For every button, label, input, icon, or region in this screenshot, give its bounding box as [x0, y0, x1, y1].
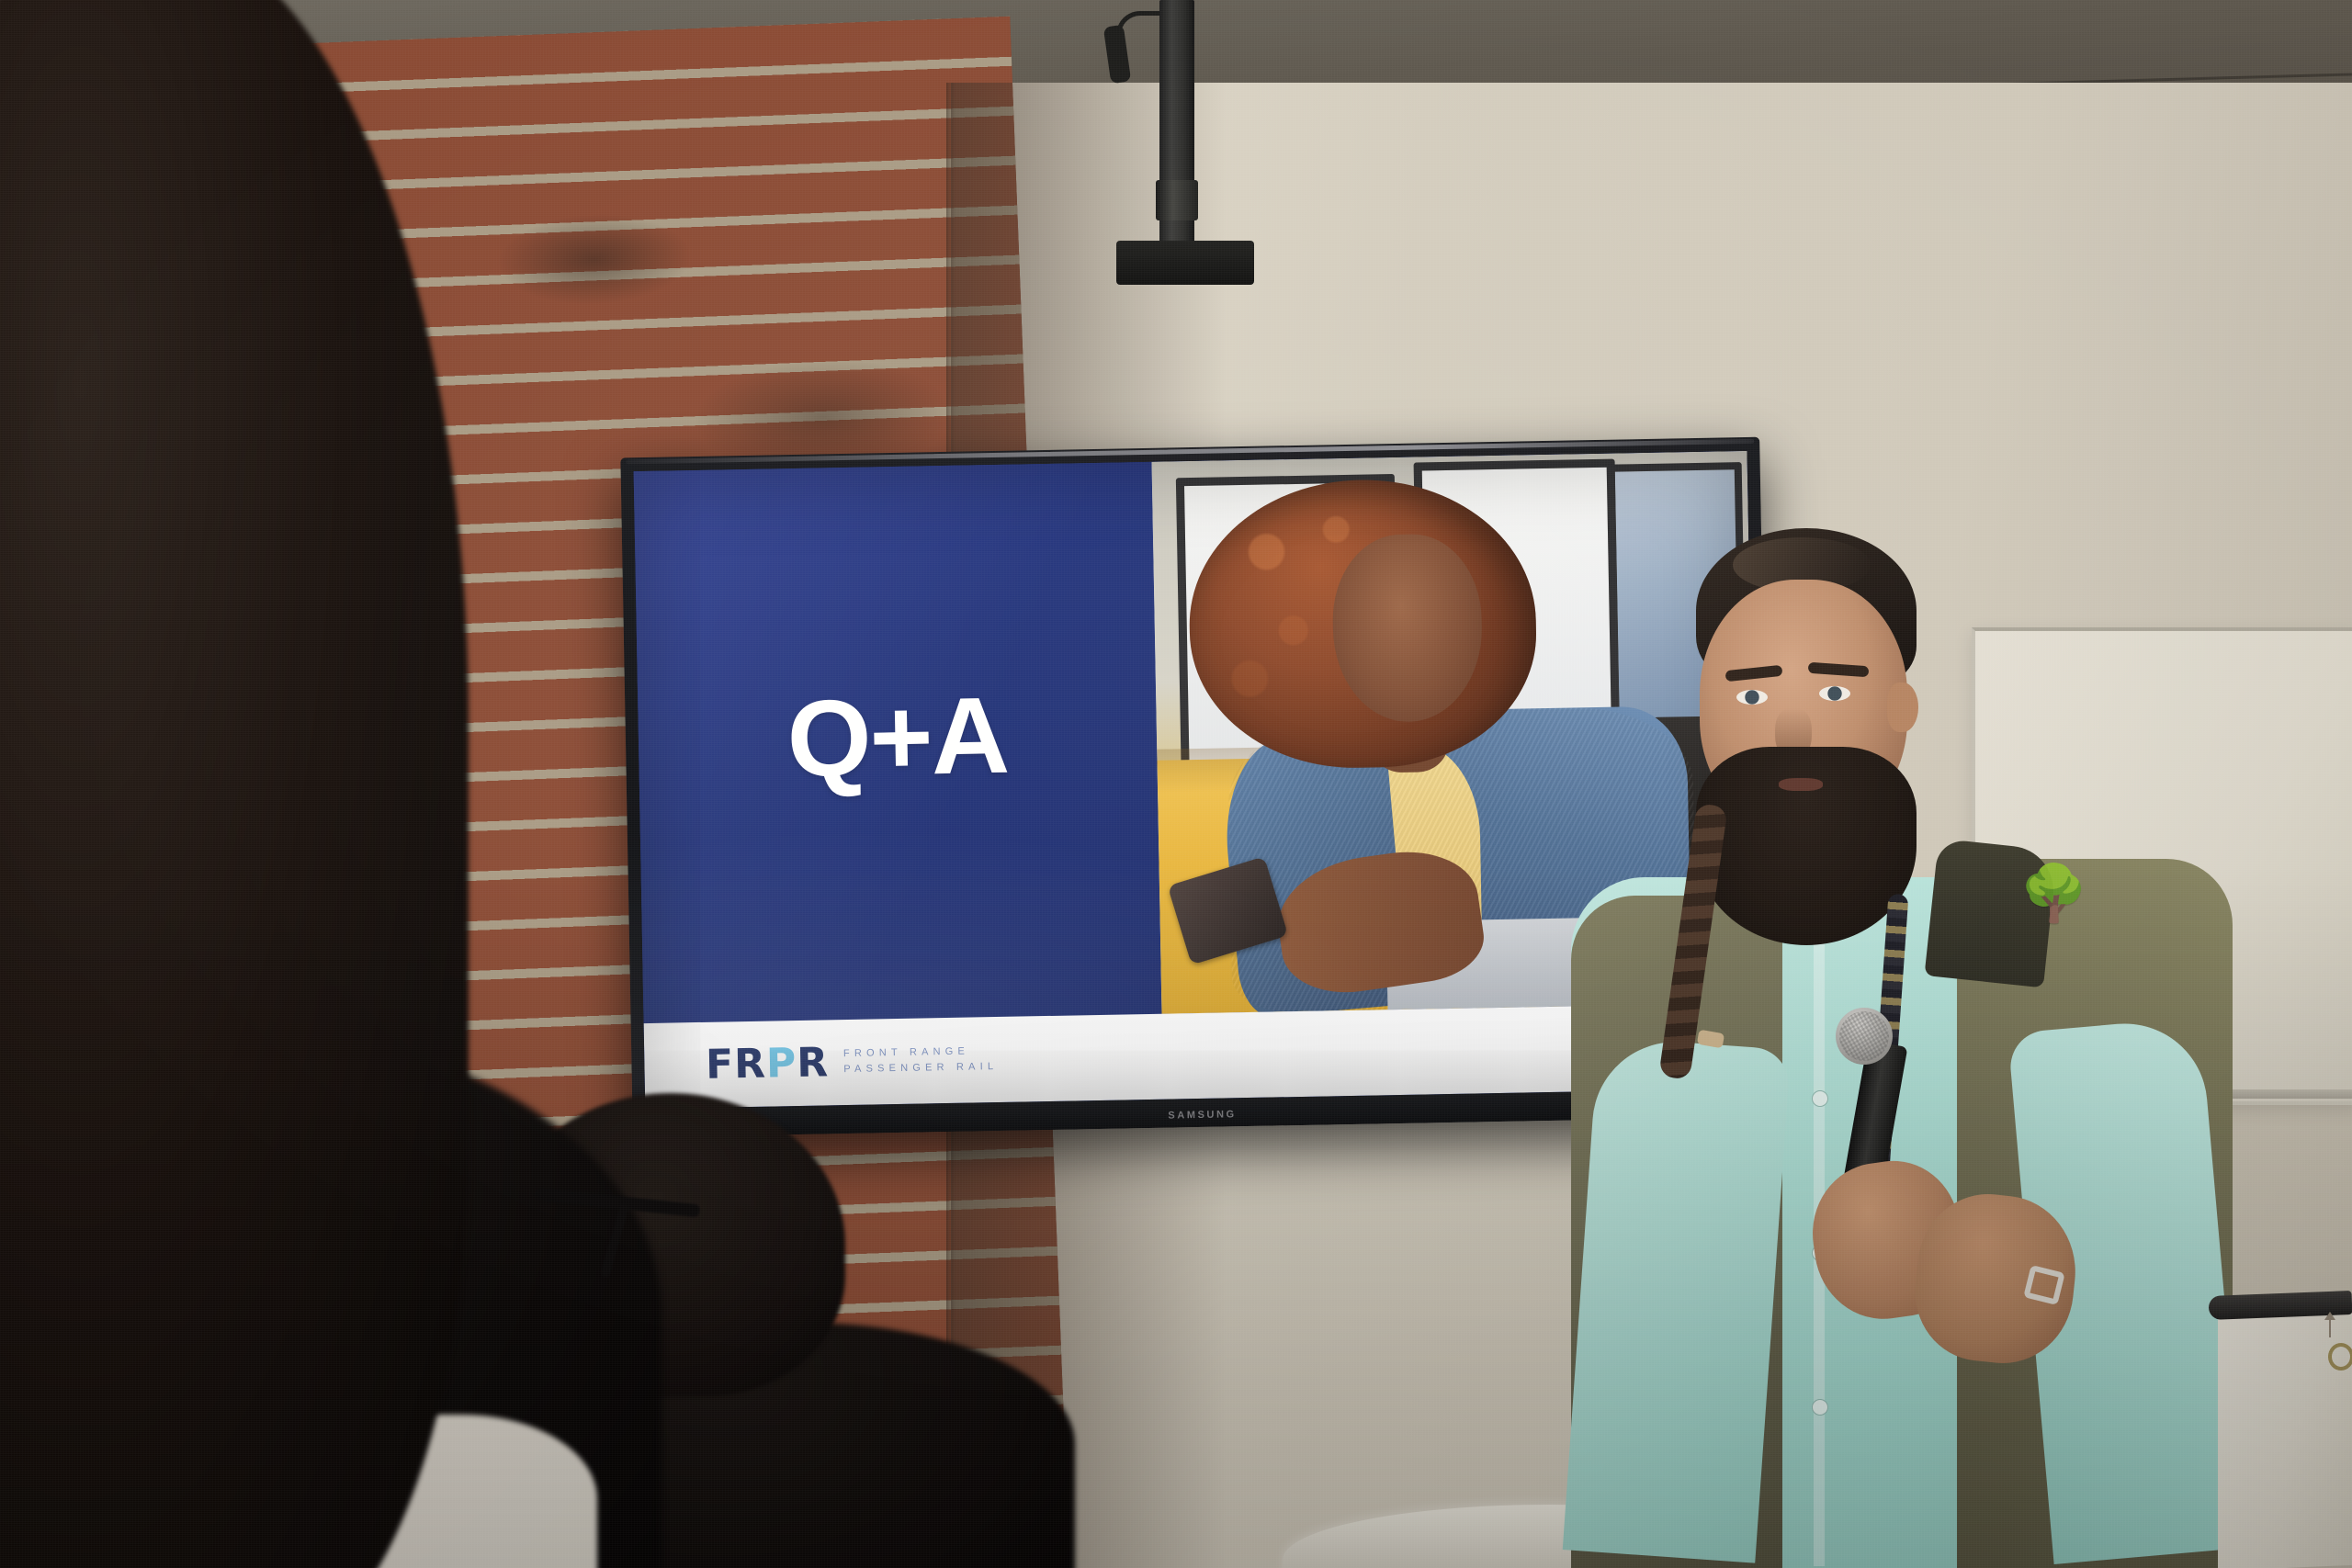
speaker-eye — [1736, 690, 1768, 705]
presentation-scene: Q+A — [0, 0, 2352, 1568]
tv-mount-pole — [1159, 0, 1194, 276]
slide-title-panel: Q+A — [634, 462, 1161, 1023]
speaker-beard — [1696, 747, 1917, 945]
logo-wordmark-part-2: R — [797, 1039, 830, 1087]
logo-wordmark-part-1: FR — [706, 1040, 767, 1088]
logo-wordmark-accent: P — [766, 1040, 797, 1088]
speaker-shirt-button — [1812, 1399, 1828, 1416]
speaker-mouth — [1779, 778, 1823, 791]
up-arrow-icon — [2329, 1314, 2331, 1337]
logo-tagline-line-2: PASSENGER RAIL — [843, 1061, 998, 1077]
audience-member-left-head — [0, 0, 469, 1568]
slide-title: Q+A — [786, 681, 1009, 793]
tv-mount-plate — [1116, 241, 1254, 285]
flip-chart-pad[interactable] — [2218, 1300, 2352, 1568]
frpr-logo: FRPR FRONT RANGE PASSENGER RAIL — [706, 1040, 999, 1086]
speaker-shirt-button — [1812, 1090, 1828, 1107]
flip-chart-ring — [2328, 1343, 2352, 1371]
logo-tagline: FRONT RANGE PASSENGER RAIL — [843, 1045, 998, 1077]
speaker-arm-left — [1563, 1036, 1792, 1562]
tv-brand-label: SAMSUNG — [1168, 1109, 1237, 1121]
logo-wordmark: FRPR — [706, 1043, 830, 1085]
speaker-ear — [1887, 682, 1918, 732]
tree-emblem-icon: 🌳 — [2019, 866, 2071, 938]
speaker: 🌳 — [1516, 528, 2269, 1568]
speaker-eye — [1819, 686, 1850, 701]
tv-mount-collar — [1156, 180, 1198, 220]
logo-tagline-line-1: FRONT RANGE — [843, 1045, 998, 1061]
